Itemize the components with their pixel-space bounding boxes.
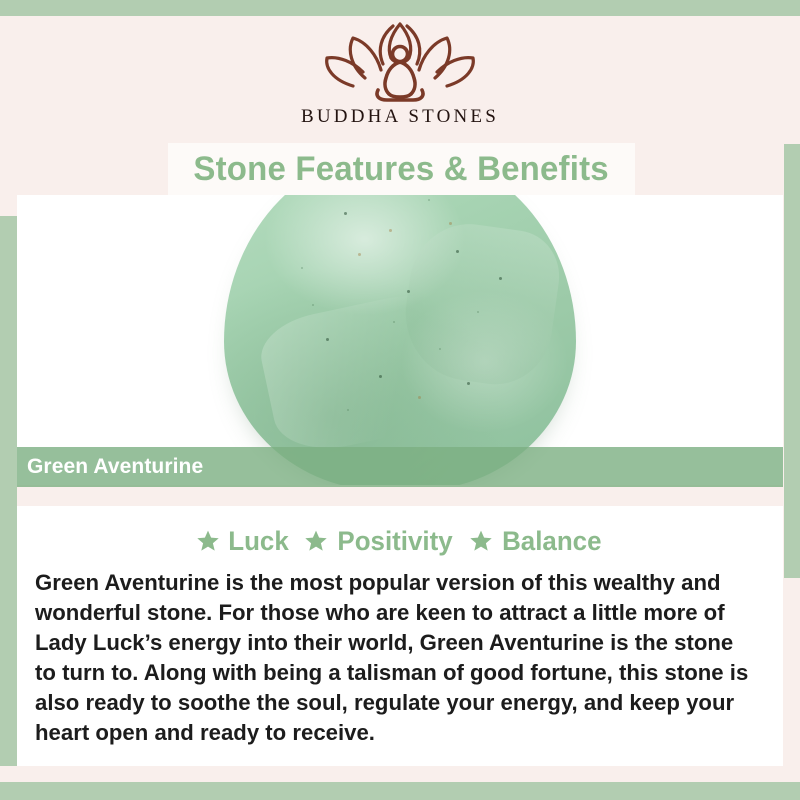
benefit-label: Balance xyxy=(502,526,601,557)
content-panel: Luck Positivity Balance Green Aventurine… xyxy=(17,506,783,766)
benefit-label: Luck xyxy=(228,526,289,557)
star-icon xyxy=(469,529,493,553)
lotus-meditation-logo-icon xyxy=(315,20,485,104)
product-description: Green Aventurine is the most popular ver… xyxy=(35,568,754,748)
frame-border-top xyxy=(0,0,800,16)
benefits-row: Luck Positivity Balance xyxy=(35,520,765,562)
benefit-item: Luck xyxy=(196,526,290,557)
green-aventurine-stone-image xyxy=(224,195,576,485)
brand-header: BUDDHA STONES xyxy=(0,16,800,144)
brand-wordmark: BUDDHA STONES xyxy=(301,106,499,128)
star-icon xyxy=(196,529,220,553)
section-divider xyxy=(17,487,783,506)
title-banner: Stone Features & Benefits xyxy=(168,143,635,195)
star-icon xyxy=(304,529,328,553)
frame-border-bottom xyxy=(0,782,800,800)
benefit-item: Balance xyxy=(469,526,604,557)
product-name: Green Aventurine xyxy=(27,455,203,479)
page-title: Stone Features & Benefits xyxy=(194,150,609,189)
benefit-label: Positivity xyxy=(338,526,453,557)
benefit-item: Positivity xyxy=(304,526,455,557)
product-photo xyxy=(17,195,783,485)
frame-border-left xyxy=(0,216,17,766)
stone-body xyxy=(224,195,576,485)
product-name-band: Green Aventurine xyxy=(17,447,783,487)
